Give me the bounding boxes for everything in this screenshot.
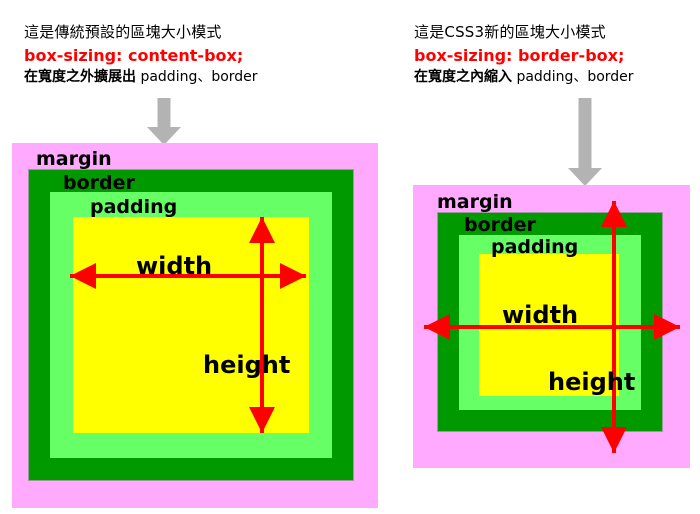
label-height-right: height [548, 370, 635, 394]
caption-border-box: 這是CSS3新的區塊大小模式 box-sizing: border-box; 在… [414, 22, 634, 87]
arrowhead-down-icon [601, 427, 627, 453]
arrowhead-up-icon [249, 217, 275, 243]
padding-area-left [50, 192, 332, 458]
caption-line-description: 這是傳統預設的區塊大小模式 [24, 22, 258, 44]
label-margin-right: margin [437, 193, 513, 212]
caption-line-code: box-sizing: border-box; [414, 44, 634, 67]
caption-line-behavior-latin: padding、border [136, 69, 258, 85]
label-margin-left: margin [36, 150, 112, 169]
arrowhead-left-icon [424, 314, 450, 340]
height-measure-right [600, 201, 628, 453]
arrowhead-right-icon [280, 263, 306, 289]
label-width-right: width [502, 303, 578, 327]
label-padding-right: padding [491, 238, 578, 257]
border-area-left [29, 170, 353, 480]
caption-line-behavior: 在寬度之外擴展出 padding、border [24, 67, 258, 87]
label-border-left: border [63, 174, 135, 193]
caption-line-behavior: 在寬度之內縮入 padding、border [414, 67, 634, 87]
arrowhead-down-icon [249, 407, 275, 433]
label-border-right: border [464, 216, 536, 235]
arrowhead-right-icon [654, 314, 680, 340]
caption-line-description: 這是CSS3新的區塊大小模式 [414, 22, 634, 44]
margin-area-left [12, 143, 378, 508]
caption-line-behavior-cjk: 在寬度之外擴展出 [24, 69, 136, 85]
arrowhead-up-icon [601, 201, 627, 227]
height-measure-line [260, 217, 264, 433]
down-arrow-shaft [158, 98, 171, 129]
down-arrow-head [568, 168, 602, 186]
label-width-left: width [136, 254, 212, 278]
label-padding-left: padding [90, 198, 177, 217]
height-measure-line [612, 201, 616, 453]
caption-content-box: 這是傳統預設的區塊大小模式 box-sizing: content-box; 在… [24, 22, 258, 87]
down-arrow-icon-left [142, 98, 186, 145]
caption-line-behavior-latin: padding、border [512, 69, 634, 85]
caption-line-behavior-cjk: 在寬度之內縮入 [414, 69, 512, 85]
down-arrow-shaft [579, 98, 592, 170]
caption-line-code: box-sizing: content-box; [24, 44, 258, 67]
height-measure-left [248, 217, 276, 433]
down-arrow-icon-right [563, 98, 607, 186]
arrowhead-left-icon [70, 263, 96, 289]
label-height-left: height [203, 353, 290, 377]
